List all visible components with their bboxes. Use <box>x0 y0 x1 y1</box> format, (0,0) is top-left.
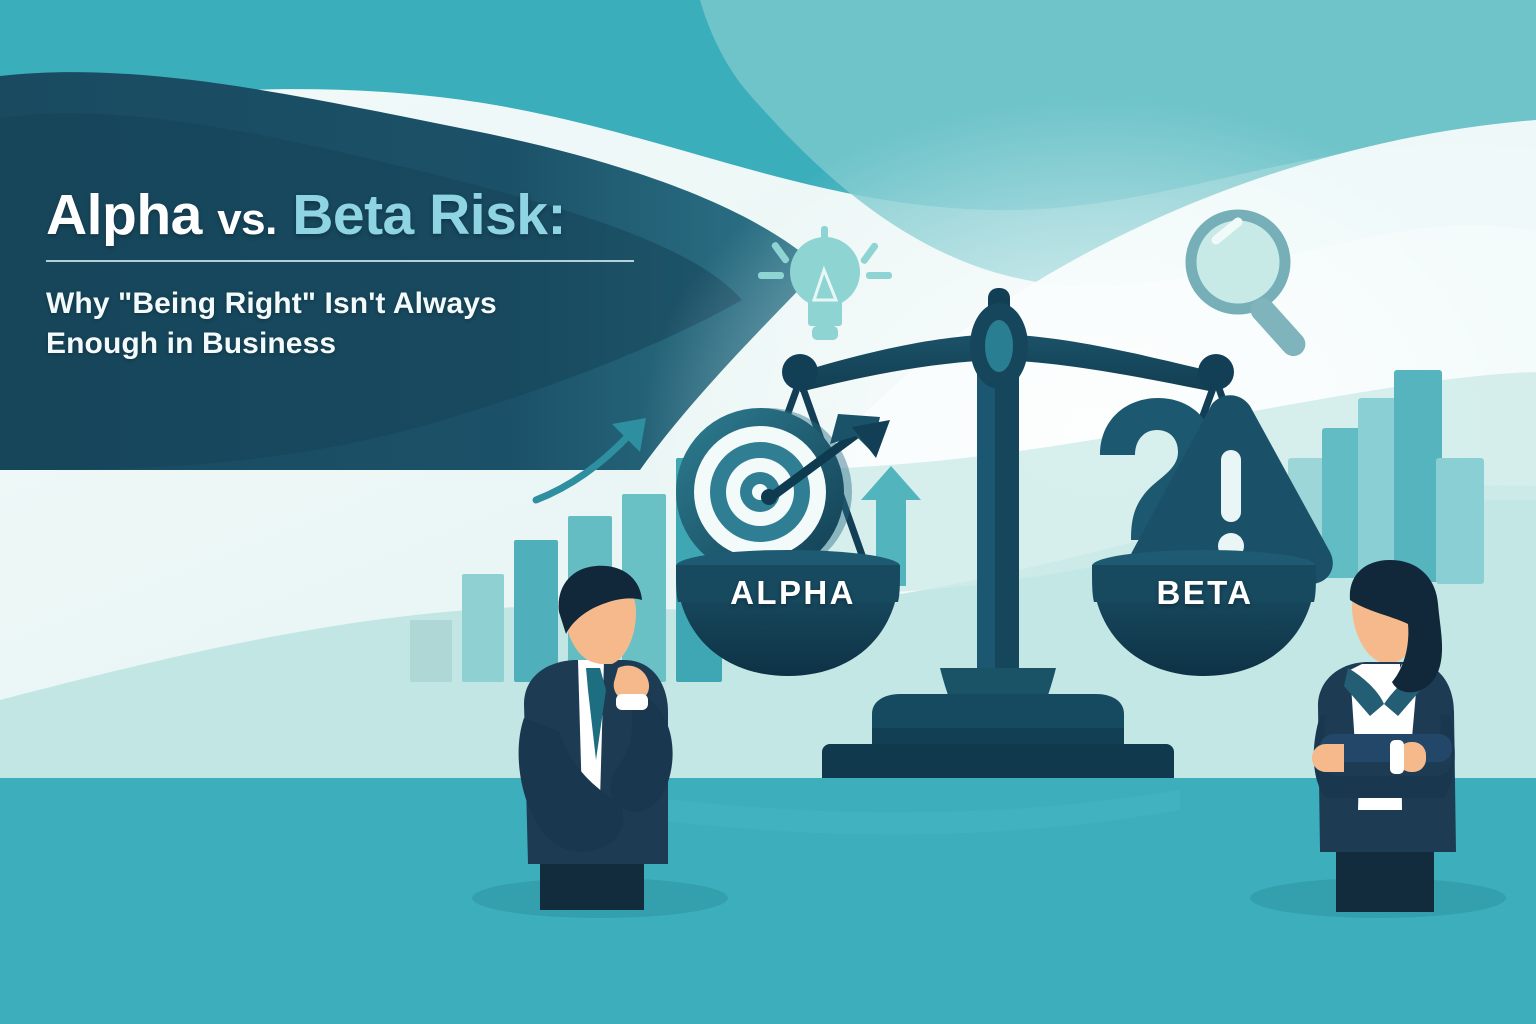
illustration-artwork <box>0 0 1536 1024</box>
businessman-cuff <box>616 694 648 710</box>
poster-canvas: Alpha vs. Beta Risk: Why "Being Right" I… <box>0 0 1536 1024</box>
businesswoman-hand-left <box>1312 744 1344 772</box>
